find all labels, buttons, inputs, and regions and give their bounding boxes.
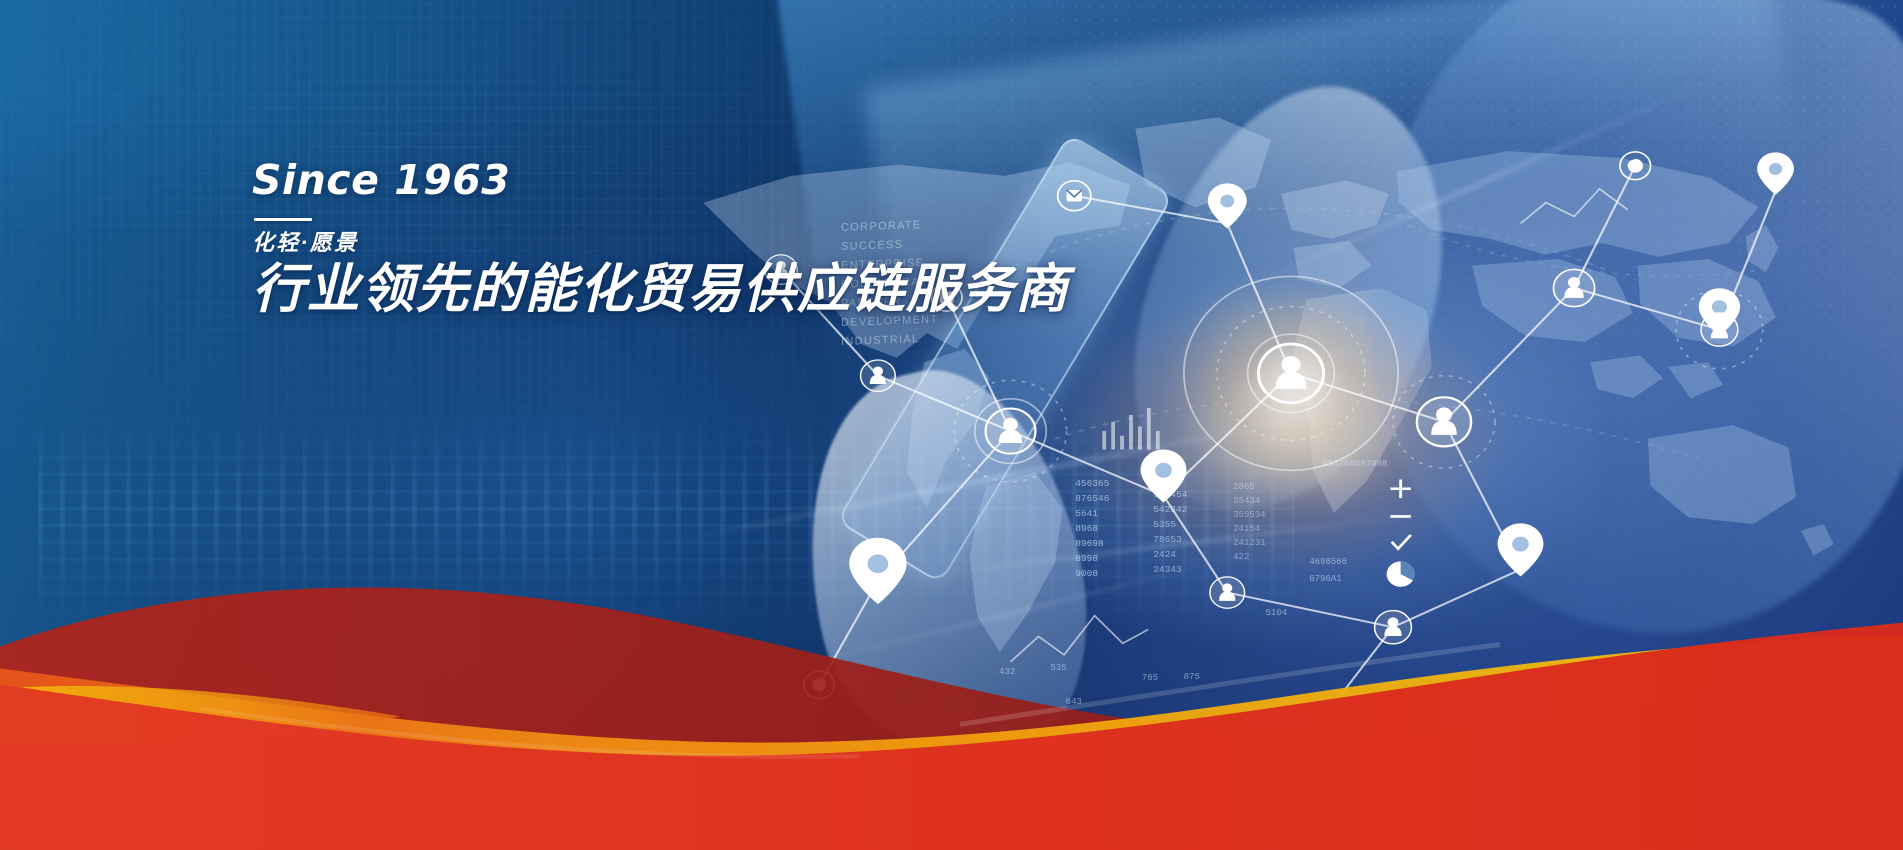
vision-label: 化轻·愿景 bbox=[252, 230, 1070, 255]
mini-bar-chart bbox=[1102, 408, 1159, 450]
hero-headline: 行业领先的能化贸易供应链服务商 bbox=[252, 260, 1070, 319]
hero-banner: CORPORATE SUCCESS ENTERPRISE COLLABORATI… bbox=[0, 0, 1903, 850]
hero-text-block: Since 1963 化轻·愿景 行业领先的能化贸易供应链服务商 bbox=[252, 160, 1070, 320]
divider-rule bbox=[254, 218, 312, 221]
since-label: Since 1963 bbox=[252, 160, 1070, 201]
decorative-wave-band bbox=[0, 459, 1903, 850]
